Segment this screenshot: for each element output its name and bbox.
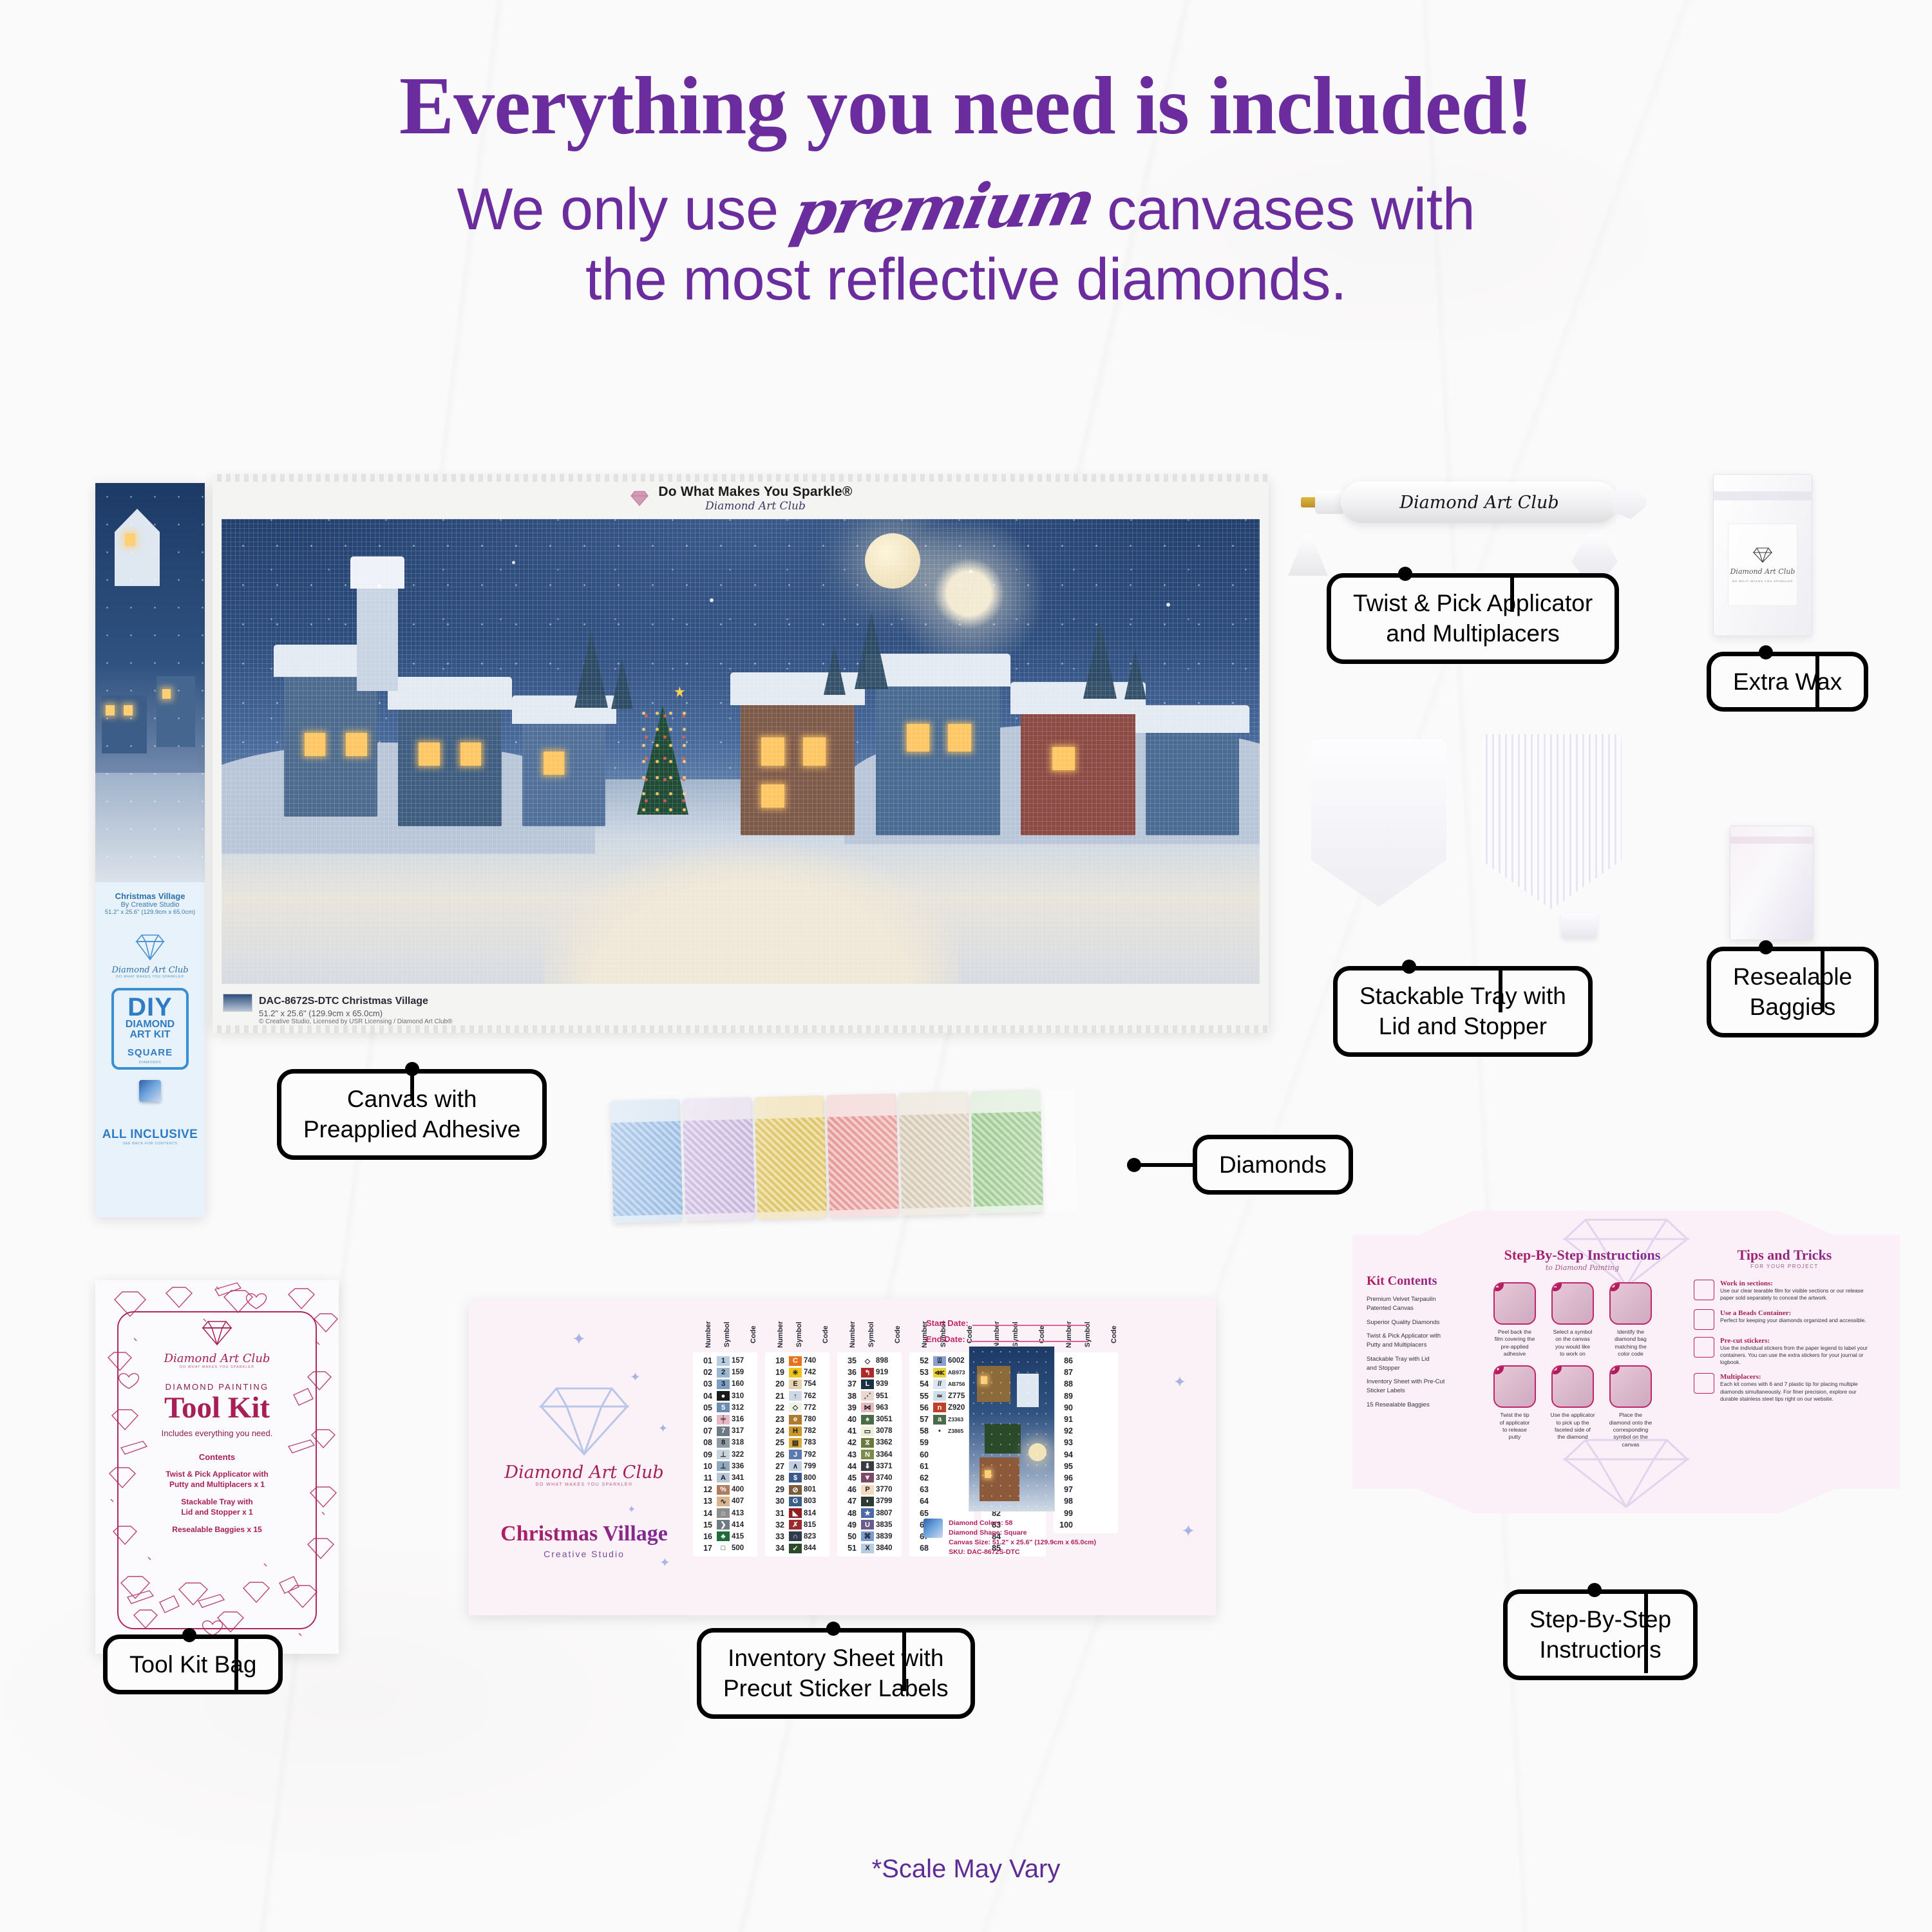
meta-diamond-shape: Diamond Shape: Square — [949, 1528, 1096, 1538]
inventory-row: 87 — [1054, 1367, 1118, 1378]
toolkit-card: Diamond Art Club DO WHAT MAKES YOU SPARK… — [117, 1311, 317, 1629]
inventory-symbol: ❯ — [717, 1520, 730, 1529]
inventory-number: 24 — [765, 1426, 787, 1435]
inventory-code: 3362 — [876, 1439, 900, 1446]
inventory-code: 814 — [804, 1510, 828, 1517]
inventory-symbol — [1077, 1391, 1090, 1401]
inventory-symbol: ╪ — [717, 1415, 730, 1425]
inventory-code: 762 — [804, 1392, 828, 1400]
inventory-row: 49U3835 — [837, 1519, 902, 1531]
inventory-code: 317 — [732, 1427, 756, 1435]
inventory-row: 32✗815 — [765, 1519, 829, 1531]
inventory-row: 95 — [1054, 1461, 1118, 1472]
inventory-symbol: ◇ — [861, 1356, 874, 1366]
inventory-number: 91 — [1054, 1415, 1075, 1424]
inventory-symbol: ◇ — [789, 1403, 802, 1412]
inventory-symbol — [1077, 1379, 1090, 1389]
inventory-code: 413 — [732, 1510, 756, 1517]
inventory-symbol — [933, 1508, 946, 1518]
inventory-symbol — [933, 1461, 946, 1471]
canvas-header: Do What Makes You Sparkle® Diamond Art C… — [213, 477, 1269, 520]
packaging-artwork — [95, 483, 205, 882]
inventory-number: 96 — [1054, 1473, 1075, 1482]
inventory-code: 160 — [732, 1380, 756, 1388]
inventory-number: 20 — [765, 1379, 787, 1388]
inventory-number: 43 — [837, 1450, 859, 1459]
inventory-row: 88 — [1054, 1378, 1118, 1390]
diamond-icon — [629, 490, 650, 507]
inventory-number: 50 — [837, 1532, 859, 1541]
package-product-title: Christmas Village — [95, 891, 205, 901]
inventory-row: 17□500 — [693, 1542, 757, 1554]
instruction-step: 3Identify the diamond bag matching the c… — [1605, 1282, 1656, 1358]
inventory-table-block: 8687888990919293949596979899100 — [1054, 1352, 1118, 1533]
inventory-number: 28 — [765, 1473, 787, 1482]
inventory-row: 24H782 — [765, 1425, 829, 1437]
inventory-symbol: 2 — [717, 1368, 730, 1378]
inventory-row: 55≃Z775 — [909, 1390, 974, 1402]
inventory-column-header: Symbol — [786, 1318, 803, 1351]
inventory-table-block: 01115702215903316004●31005531206╪3160773… — [693, 1352, 757, 1557]
inventory-row: 18C740 — [765, 1355, 829, 1367]
inventory-symbol: ♠ — [861, 1415, 874, 1425]
inventory-symbol: X — [861, 1544, 874, 1553]
instruction-tips: Tips and Tricks FOR YOUR PROJECT Work in… — [1694, 1247, 1875, 1410]
tip-title: Pre-cut stickers: — [1720, 1337, 1875, 1345]
inventory-symbol: n — [933, 1403, 946, 1412]
inventory-code: 3371 — [876, 1463, 900, 1470]
square-diamond-chip — [139, 1080, 161, 1102]
inventory-number: 04 — [693, 1392, 715, 1401]
toolkit-eyebrow: DIAMOND PAINTING — [118, 1382, 316, 1392]
inventory-number: 58 — [909, 1426, 931, 1435]
subtitle-text-a: We only use — [457, 176, 779, 242]
tip-item: Multiplacers:Each kit comes with 6 and 7… — [1694, 1373, 1875, 1403]
date-fields: Start Date: End Date: — [926, 1316, 1087, 1349]
tip-item: Work in sections:Use our clear tearable … — [1694, 1280, 1875, 1302]
inventory-symbol: 5 — [717, 1403, 730, 1412]
diy-text: DIY — [114, 996, 186, 1019]
inventory-number: 07 — [693, 1426, 715, 1435]
toolkit-subtitle: Includes everything you need. — [118, 1428, 316, 1438]
inventory-product-title: Christmas Village — [491, 1522, 677, 1546]
inventory-number: 57 — [909, 1415, 931, 1424]
inventory-code: 407 — [732, 1497, 756, 1505]
subtitle-line-2: the most reflective diamonds. — [0, 245, 1932, 315]
package-brand-script: Diamond Art Club — [95, 965, 205, 975]
inventory-row: 64 — [909, 1495, 974, 1507]
inventory-code: 951 — [876, 1392, 900, 1400]
canvas-copyright: © Creative Studio, Licensed by USR Licen… — [259, 1018, 452, 1025]
inventory-code: 772 — [804, 1404, 828, 1412]
callout-resealable-baggies-label[interactable]: Resealable Baggies — [1707, 947, 1879, 1037]
inventory-symbol: ★ — [861, 1508, 874, 1518]
inventory-row: 37L939 — [837, 1378, 902, 1390]
subtitle-script-premium: premium — [786, 166, 1100, 249]
inventory-number: 86 — [1054, 1356, 1075, 1365]
inventory-number: 92 — [1054, 1426, 1075, 1435]
pen-brand-script: Diamond Art Club — [1399, 493, 1558, 513]
inventory-symbol: ✗ — [789, 1520, 802, 1529]
inventory-code: 792 — [804, 1451, 828, 1459]
wax-brand-tagline: DO WHAT MAKES YOU SPARKLE® — [1732, 580, 1794, 583]
tip-item: Use a Beads Container:Perfect for keepin… — [1694, 1309, 1875, 1330]
diy-shape: SQUARE — [123, 1047, 177, 1058]
instruction-step: 4Twist the tip of applicator to release … — [1489, 1365, 1540, 1448]
inventory-number: 06 — [693, 1415, 715, 1424]
inventory-symbol: 3 — [717, 1379, 730, 1389]
inventory-number: 49 — [837, 1520, 859, 1529]
inventory-code: 800 — [804, 1474, 828, 1482]
inventory-row: 60 — [909, 1449, 974, 1461]
callout-extra-wax-label[interactable]: Extra Wax — [1707, 652, 1868, 712]
tip-title: Work in sections: — [1720, 1280, 1875, 1287]
inventory-column-header: Code — [877, 1318, 902, 1351]
packaging-box: Christmas Village By Creative Studio 51.… — [95, 483, 205, 1217]
subtitle-text-b: canvases with — [1107, 176, 1475, 242]
inventory-code: 316 — [732, 1416, 756, 1423]
inventory-artist: Creative Studio — [491, 1549, 677, 1559]
inventory-number: 61 — [909, 1462, 931, 1471]
tips-heading: Tips and Tricks — [1694, 1247, 1875, 1264]
step-caption: Identify the diamond bag matching the co… — [1605, 1329, 1656, 1358]
inventory-column-header: Number — [765, 1318, 784, 1351]
start-date-input[interactable] — [972, 1316, 1087, 1326]
inventory-column-header: Code — [733, 1318, 757, 1351]
inventory-row: 31◣814 — [765, 1507, 829, 1519]
sparkle-icon: ✦ — [572, 1329, 586, 1349]
see-back-text: SEE BACK FOR CONTENTS — [95, 1142, 205, 1146]
inventory-code: 3770 — [876, 1486, 900, 1493]
inventory-row: 42⧖3362 — [837, 1437, 902, 1448]
inventory-row: 86 — [1054, 1355, 1118, 1367]
step-caption: Select a symbol on the canvas you would … — [1547, 1329, 1598, 1358]
inventory-symbol: U — [861, 1520, 874, 1529]
callout-inventory-sheet-label[interactable]: Inventory Sheet with Precut Sticker Labe… — [697, 1628, 975, 1719]
inventory-symbol: ▭ — [861, 1426, 874, 1436]
step-number: 1 — [1493, 1282, 1504, 1291]
package-brand-tagline: DO WHAT MAKES YOU SPARKLE® — [95, 975, 205, 979]
inventory-code: 3051 — [876, 1416, 900, 1423]
inventory-row: 40♠3051 — [837, 1414, 902, 1425]
sparkle-icon: ✦ — [658, 1422, 668, 1435]
inventory-row: 45⩔3740 — [837, 1472, 902, 1484]
inventory-number: 59 — [909, 1438, 931, 1447]
packaging-info-panel: Christmas Village By Creative Studio 51.… — [95, 882, 205, 1217]
inventory-code: 919 — [876, 1368, 900, 1376]
inventory-symbol — [1077, 1438, 1090, 1448]
inventory-symbol: ↑ — [789, 1391, 802, 1401]
sparkle-icon: ✦ — [630, 1369, 641, 1385]
inventory-row: 19✳742 — [765, 1367, 829, 1378]
sparkle-icon: ✦ — [659, 1555, 670, 1571]
inventory-symbol: ∧ — [789, 1461, 802, 1471]
inventory-number: 05 — [693, 1403, 715, 1412]
inventory-number: 56 — [909, 1403, 931, 1412]
inventory-row: 52⍍6002 — [909, 1355, 974, 1367]
inventory-symbol — [933, 1450, 946, 1459]
inventory-code: 783 — [804, 1439, 828, 1446]
headline-block: Everything you need is included! We only… — [0, 64, 1932, 314]
inventory-number: 95 — [1054, 1462, 1075, 1471]
inventory-number: 13 — [693, 1497, 715, 1506]
inventory-number: 22 — [765, 1403, 787, 1412]
callout-step-by-step-label[interactable]: Step-By-Step Instructions — [1503, 1589, 1698, 1680]
meta-canvas-size: Canvas Size: 51.2" x 25.6" (129.9cm x 65… — [949, 1538, 1096, 1548]
inventory-row: 22◇772 — [765, 1402, 829, 1414]
inventory-number: 30 — [765, 1497, 787, 1506]
toolkit-title: Tool Kit — [118, 1393, 316, 1423]
step-number: 5 — [1551, 1365, 1562, 1374]
inventory-row: 28$800 — [765, 1472, 829, 1484]
inventory-table-block: 18C74019✳74220E75421↑76222◇77223e78024H7… — [765, 1352, 829, 1557]
inventory-row: 16♣415 — [693, 1531, 757, 1542]
kit-contents-heading: Kit Contents — [1367, 1274, 1476, 1289]
inventory-code: 939 — [876, 1380, 900, 1388]
callout-canvas: Canvas with Preapplied Adhesive — [277, 1069, 547, 1160]
inventory-code: 782 — [804, 1427, 828, 1435]
diamond-painting-canvas: Do What Makes You Sparkle® Diamond Art C… — [213, 477, 1269, 1030]
inventory-code: 3799 — [876, 1497, 900, 1505]
sparkle-icon: ✦ — [627, 1503, 636, 1516]
inventory-row: 25▤783 — [765, 1437, 829, 1448]
extra-wax-baggie: Diamond Art Club DO WHAT MAKES YOU SPARK… — [1713, 474, 1812, 636]
inventory-column-header: Code — [1094, 1318, 1118, 1351]
inventory-number: 93 — [1054, 1438, 1075, 1447]
inventory-code: 3835 — [876, 1521, 900, 1529]
tip-icon — [1694, 1309, 1714, 1330]
canvas-footer-thumbnail — [223, 994, 252, 1012]
inventory-symbol: ♣ — [717, 1531, 730, 1541]
applicator-pen: Diamond Art Club — [1301, 477, 1642, 535]
inventory-number: 46 — [837, 1485, 859, 1494]
inventory-code: 318 — [732, 1439, 756, 1446]
inventory-symbol — [933, 1473, 946, 1482]
toolkit-item-0: Twist & Pick Applicator with Putty and M… — [118, 1470, 316, 1490]
inventory-number: 38 — [837, 1392, 859, 1401]
inventory-code: 740 — [804, 1357, 828, 1365]
callout-step-by-step: Step-By-Step Instructions — [1503, 1589, 1698, 1680]
inventory-row: 97 — [1054, 1484, 1118, 1495]
inventory-row: 26J792 — [765, 1449, 829, 1461]
step-photo: 2 — [1551, 1282, 1594, 1325]
callout-stackable-tray: Stackable Tray with Lid and Stopper — [1333, 966, 1593, 1057]
callout-inventory-sheet: Inventory Sheet with Precut Sticker Labe… — [697, 1628, 975, 1719]
inventory-number: 27 — [765, 1462, 787, 1471]
inventory-row: 98 — [1054, 1495, 1118, 1507]
inventory-number: 98 — [1054, 1497, 1075, 1506]
inventory-row: 33∩823 — [765, 1531, 829, 1542]
inventory-symbol: ● — [717, 1391, 730, 1401]
tip-icon — [1694, 1337, 1714, 1358]
sparkle-icon: ✦ — [1181, 1521, 1195, 1541]
inventory-code: 500 — [732, 1544, 756, 1552]
tool-kit-bag: Diamond Art Club DO WHAT MAKES YOU SPARK… — [95, 1280, 339, 1654]
inventory-number: 65 — [909, 1509, 931, 1518]
inventory-number: 63 — [909, 1485, 931, 1494]
callout-applicator: Twist & Pick Applicator and Multiplacers — [1327, 573, 1619, 664]
inventory-symbol: ⊥ — [717, 1450, 730, 1459]
inventory-symbol — [1077, 1473, 1090, 1482]
inventory-metadata: Diamond Colors: 58 Diamond Shape: Square… — [923, 1519, 1096, 1557]
callout-tool-kit-bag-label[interactable]: Tool Kit Bag — [103, 1634, 283, 1694]
inventory-number: 97 — [1054, 1485, 1075, 1494]
inventory-symbol: 8 — [717, 1438, 730, 1448]
inventory-row: 077317 — [693, 1425, 757, 1437]
inventory-symbol — [1077, 1426, 1090, 1436]
inventory-number: 26 — [765, 1450, 787, 1459]
inventory-brand-tagline: DO WHAT MAKES YOU SPARKLE® — [491, 1482, 677, 1487]
diy-badge: DIY DIAMOND ART KIT SQUARE DIAMONDS — [111, 988, 189, 1070]
inventory-number: 90 — [1054, 1403, 1075, 1412]
start-date-label: Start Date: — [926, 1318, 969, 1328]
inventory-number: 40 — [837, 1415, 859, 1424]
inventory-symbol — [1077, 1356, 1090, 1366]
diamond-icon — [1752, 547, 1774, 563]
kit-content-4: Inventory Sheet with Pre-Cut Sticker Lab… — [1367, 1378, 1476, 1396]
all-inclusive-text: ALL INCLUSIVE — [95, 1128, 205, 1142]
step-caption: Use the applicator to pick up the facete… — [1547, 1412, 1598, 1441]
inventory-number: 55 — [909, 1392, 931, 1401]
inventory-code: 400 — [732, 1486, 756, 1493]
tip-body: Each kit comes with 6 and 7 plastic tip … — [1720, 1381, 1875, 1403]
inventory-code: 799 — [804, 1463, 828, 1470]
callout-applicator-label[interactable]: Twist & Pick Applicator and Multiplacers — [1327, 573, 1619, 664]
inventory-code: 312 — [732, 1404, 756, 1412]
package-diamond-icon — [95, 933, 205, 965]
inventory-number: 16 — [693, 1532, 715, 1541]
inventory-row: 94 — [1054, 1449, 1118, 1461]
inventory-code: 780 — [804, 1416, 828, 1423]
toolkit-item-2: Resealable Baggies x 15 — [118, 1525, 316, 1535]
inventory-symbol: ⧖ — [861, 1438, 874, 1448]
callout-stackable-tray-label[interactable]: Stackable Tray with Lid and Stopper — [1333, 966, 1593, 1057]
inventory-code: 898 — [876, 1357, 900, 1365]
inventory-symbol: ▤ — [789, 1438, 802, 1448]
inventory-symbol: H — [789, 1426, 802, 1436]
inventory-number: 02 — [693, 1368, 715, 1377]
inventory-row: 62 — [909, 1472, 974, 1484]
tip-item: Pre-cut stickers:Use the individual stic… — [1694, 1337, 1875, 1367]
step-number: 4 — [1493, 1365, 1504, 1374]
tray-lid — [1481, 734, 1622, 909]
toolkit-item-1: Stackable Tray with Lid and Stopper x 1 — [118, 1497, 316, 1517]
kit-content-2: Twist & Pick Applicator with Putty and M… — [1367, 1332, 1476, 1350]
inventory-number: 10 — [693, 1462, 715, 1471]
inventory-number: 08 — [693, 1438, 715, 1447]
tip-icon — [1694, 1373, 1714, 1394]
inventory-row: 57aZ3363 — [909, 1414, 974, 1425]
inventory-artwork-thumbnail — [969, 1346, 1055, 1511]
inventory-row: 20E754 — [765, 1378, 829, 1390]
inventory-number: 60 — [909, 1450, 931, 1459]
inventory-symbol: ✓ — [789, 1544, 802, 1553]
inventory-symbol: // — [933, 1379, 946, 1389]
inventory-number: 33 — [765, 1532, 787, 1541]
inventory-row: 36↰919 — [837, 1367, 902, 1378]
inventory-branding: Diamond Art Club DO WHAT MAKES YOU SPARK… — [491, 1382, 677, 1559]
inventory-symbol: ⋈ — [861, 1403, 874, 1412]
callout-diamonds-label[interactable]: Diamonds — [1193, 1135, 1353, 1195]
inventory-symbol: $ — [789, 1473, 802, 1482]
inventory-row: 89 — [1054, 1390, 1118, 1402]
inventory-symbol — [1077, 1461, 1090, 1471]
tip-body: Perfect for keeping your diamonds organi… — [1720, 1317, 1866, 1324]
inventory-row: 46P3770 — [837, 1484, 902, 1495]
inventory-number: 48 — [837, 1509, 859, 1518]
inventory-row: 92 — [1054, 1425, 1118, 1437]
inventory-row: 58▪Z3865 — [909, 1425, 974, 1437]
step-caption: Place the diamond onto the corresponding… — [1605, 1412, 1656, 1448]
inventory-symbol: a — [933, 1415, 946, 1425]
inventory-code: 754 — [804, 1380, 828, 1388]
inventory-number: 62 — [909, 1473, 931, 1482]
inventory-row: 011157 — [693, 1355, 757, 1367]
package-artist: By Creative Studio — [95, 901, 205, 909]
inventory-number: 29 — [765, 1485, 787, 1494]
inventory-symbol: ⊘ — [789, 1485, 802, 1495]
instruction-step: 2Select a symbol on the canvas you would… — [1547, 1282, 1598, 1358]
inventory-symbol: e — [789, 1415, 802, 1425]
inventory-row: 91 — [1054, 1414, 1118, 1425]
steps-heading: Step-By-Step Instructions — [1489, 1247, 1676, 1264]
inventory-symbol: ↰ — [861, 1368, 874, 1378]
inventory-code: 963 — [876, 1404, 900, 1412]
end-date-label: End Date: — [926, 1334, 965, 1344]
inventory-code: 159 — [732, 1368, 756, 1376]
tip-title: Use a Beads Container: — [1720, 1309, 1866, 1317]
inventory-code: 844 — [804, 1544, 828, 1552]
inventory-row: 04●310 — [693, 1390, 757, 1402]
diamond-bags-strip — [611, 1089, 1077, 1224]
inventory-symbol: A — [717, 1473, 730, 1482]
inventory-row: 53⋘AB973 — [909, 1367, 974, 1378]
multiplacer-tip-left — [1288, 535, 1328, 576]
inventory-column-header: Number — [837, 1318, 857, 1351]
toolkit-contents-heading: Contents — [118, 1452, 316, 1462]
inventory-number: 31 — [765, 1509, 787, 1518]
kit-content-3: Stackable Tray with Lid and Stopper — [1367, 1355, 1476, 1373]
callout-diamonds: Diamonds — [1133, 1135, 1353, 1195]
inventory-symbol: ⋰ — [861, 1391, 874, 1401]
inventory-number: 88 — [1054, 1379, 1075, 1388]
inventory-number: 52 — [909, 1356, 931, 1365]
step-photo: 5 — [1551, 1365, 1594, 1408]
canvas-size-line: 51.2" x 25.6" (129.9cm x 65.0cm) — [259, 1009, 452, 1018]
inventory-number: 89 — [1054, 1392, 1075, 1401]
tip-title: Multiplacers: — [1720, 1373, 1875, 1381]
inventory-row: 41▭3078 — [837, 1425, 902, 1437]
inventory-row: 63 — [909, 1484, 974, 1495]
inventory-number: 17 — [693, 1544, 715, 1553]
inventory-symbol — [1077, 1415, 1090, 1425]
inventory-number: 21 — [765, 1392, 787, 1401]
inventory-symbol — [1077, 1497, 1090, 1506]
kit-content-5: 15 Resealable Baggies — [1367, 1401, 1476, 1410]
inventory-row: 59 — [909, 1437, 974, 1448]
inventory-row: 54//AB756 — [909, 1378, 974, 1390]
inventory-row: 35◇898 — [837, 1355, 902, 1367]
step-photo: 1 — [1493, 1282, 1536, 1325]
inventory-number: 03 — [693, 1379, 715, 1388]
inventory-code: 157 — [732, 1357, 756, 1365]
end-date-input[interactable] — [969, 1332, 1087, 1342]
step-photo: 6 — [1609, 1365, 1652, 1408]
package-size: 51.2" x 25.6" (129.9cm x 65.0cm) — [95, 909, 205, 916]
inventory-row: 21↑762 — [765, 1390, 829, 1402]
inventory-row: 48★3807 — [837, 1507, 902, 1519]
inventory-symbol: N — [861, 1450, 874, 1459]
